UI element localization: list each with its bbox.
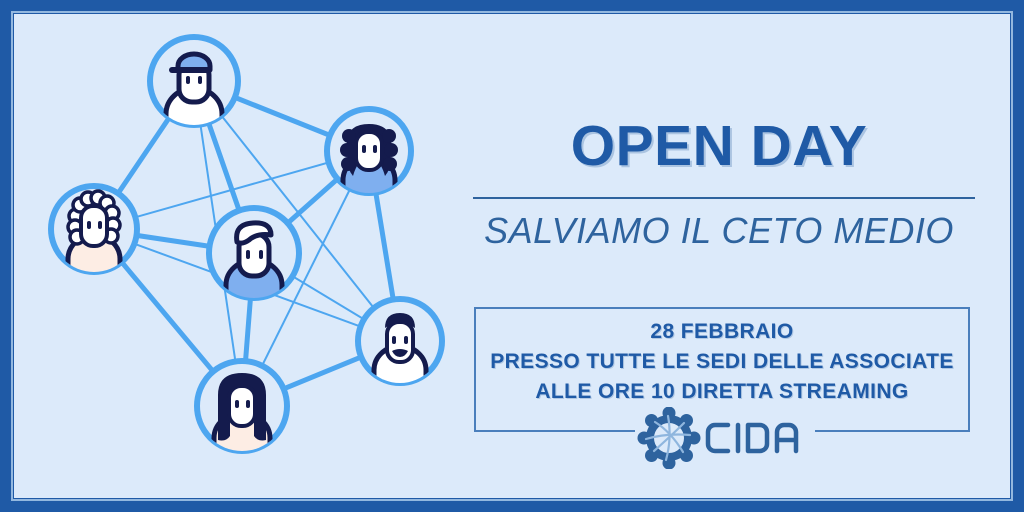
people-network-illustration — [14, 14, 474, 498]
poster: OPEN DAY SALVIAMO IL CETO MEDIO 28 FEBBR… — [0, 0, 1024, 512]
gear-network-icon — [638, 407, 701, 469]
network-node-person-curly-dark[interactable] — [327, 109, 411, 202]
page-title: OPEN DAY — [460, 118, 978, 175]
page-subtitle: SALVIAMO IL CETO MEDIO — [460, 210, 978, 251]
cida-wordmark — [708, 425, 796, 451]
cida-logo-svg — [635, 407, 815, 469]
network-node-person-long-hair[interactable] — [197, 361, 287, 462]
network-node-person-mustache[interactable] — [358, 299, 442, 392]
event-venue: PRESSO TUTTE LE SEDI DELLE ASSOCIATE — [474, 347, 970, 377]
event-date: 28 FEBBRAIO — [474, 317, 970, 347]
title-divider — [473, 197, 975, 199]
network-node-person-center[interactable] — [209, 208, 299, 309]
cida-logo — [635, 407, 815, 469]
poster-content: OPEN DAY SALVIAMO IL CETO MEDIO 28 FEBBR… — [460, 14, 1010, 498]
event-time: ALLE ORE 10 DIRETTA STREAMING — [474, 377, 970, 407]
event-details-text: 28 FEBBRAIO PRESSO TUTTE LE SEDI DELLE A… — [474, 317, 970, 406]
poster-canvas: OPEN DAY SALVIAMO IL CETO MEDIO 28 FEBBR… — [14, 14, 1010, 498]
